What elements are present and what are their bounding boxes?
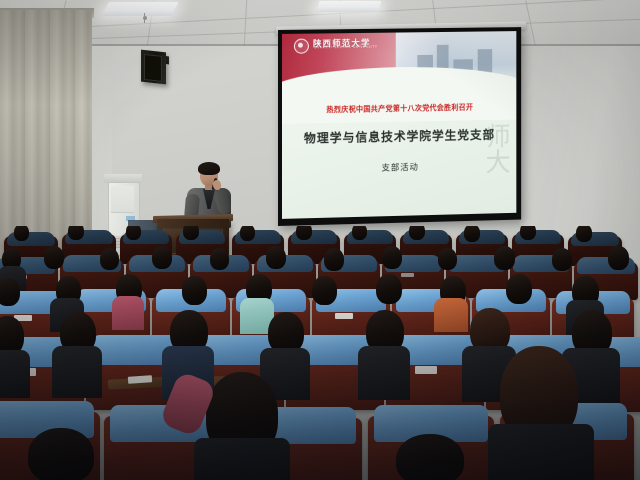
audience-body-foreground (488, 424, 594, 480)
banner-curve (282, 66, 516, 125)
audience-body (358, 346, 410, 400)
audience-head (14, 226, 29, 241)
audience-head (312, 276, 337, 305)
university-logo-icon (294, 38, 309, 53)
audience-head (552, 248, 572, 271)
speaker-hair (198, 162, 220, 175)
audience-head (438, 248, 457, 270)
audience-body (112, 296, 144, 330)
audience-head-foreground (396, 434, 464, 480)
audience-head (576, 226, 592, 242)
audience-head (182, 276, 207, 305)
projected-slide: 陕西师范大学 SHAANXI NORMAL UNIVERSITY 师大 热烈庆祝… (282, 31, 516, 219)
audience-head (464, 226, 480, 242)
curtain-shading (0, 10, 92, 260)
audience-head (210, 248, 229, 270)
audience-body-foreground (194, 438, 290, 480)
audience-head (0, 278, 20, 306)
audience-body (434, 298, 468, 332)
fluorescent-panel-light (317, 1, 382, 12)
audience-body (52, 346, 102, 398)
audience-head (240, 226, 255, 241)
audience-head (506, 274, 532, 304)
audience-head (100, 248, 119, 270)
audience-head (324, 248, 344, 271)
audience-head (266, 246, 286, 269)
audience-head (376, 274, 402, 304)
smoke-detector-icon (143, 16, 147, 20)
slide-banner: 陕西师范大学 SHAANXI NORMAL UNIVERSITY (282, 31, 516, 95)
speaker-grille-icon (144, 54, 162, 82)
audience-seating (0, 226, 640, 480)
audience-body (0, 350, 30, 398)
audience-head (352, 226, 367, 240)
audience-head (183, 226, 199, 240)
ac-vent-icon (111, 186, 134, 213)
audience-head (520, 226, 536, 240)
fluorescent-panel-light (101, 2, 178, 16)
university-name-en: SHAANXI NORMAL UNIVERSITY (314, 44, 377, 49)
audience-head (68, 226, 84, 240)
audience-head (126, 226, 141, 240)
audience-head (409, 226, 425, 240)
audience-head (494, 246, 515, 270)
audience-head-foreground (28, 428, 94, 480)
lecture-hall-photo: 陕西师范大学 SHAANXI NORMAL UNIVERSITY 师大 热烈庆祝… (0, 0, 640, 480)
audience-head (608, 246, 629, 270)
audience-head (382, 246, 402, 269)
projection-screen: 陕西师范大学 SHAANXI NORMAL UNIVERSITY 师大 热烈庆祝… (278, 27, 521, 226)
audience-head (152, 246, 172, 269)
wall-speaker (141, 50, 166, 85)
audience-head (296, 226, 312, 240)
audience-head (44, 246, 64, 269)
